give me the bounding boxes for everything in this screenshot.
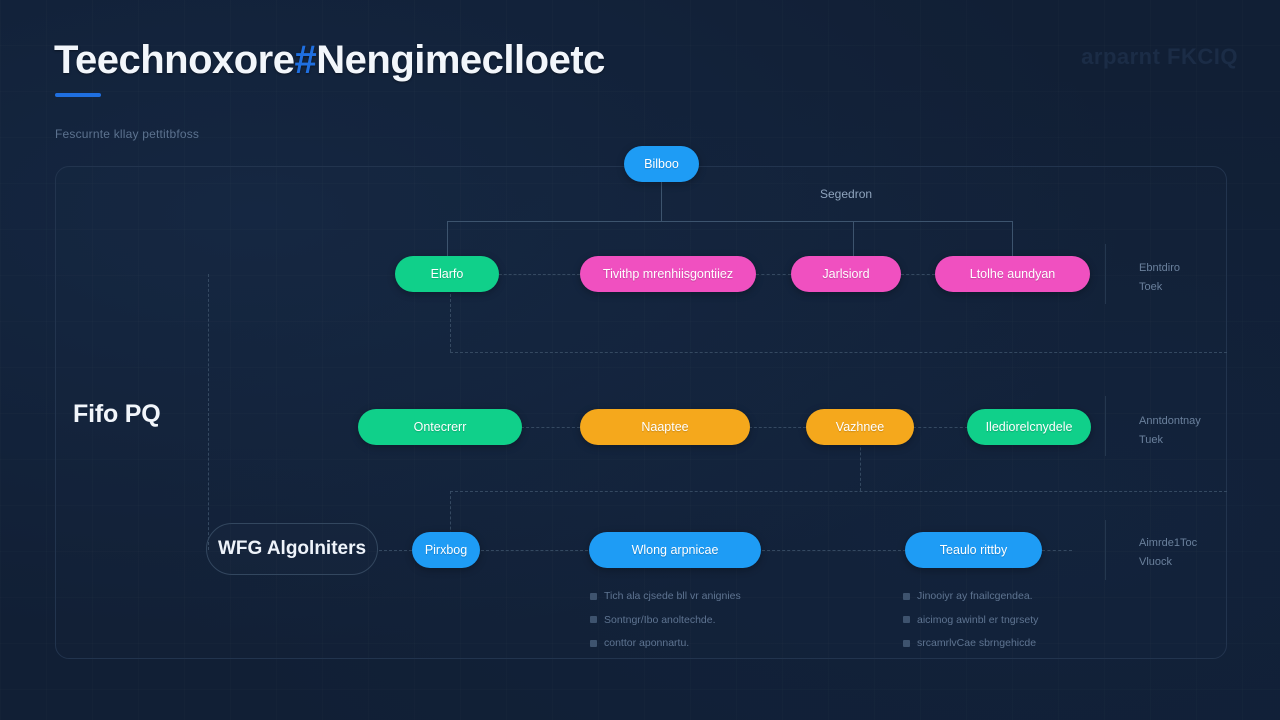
dash-row1-base bbox=[450, 352, 1227, 353]
dash-row2-c bbox=[913, 427, 968, 428]
node-row3-box-wfg[interactable]: WFG Algolniters bbox=[206, 523, 378, 575]
bullet-item: aicimog awinbl er tngrsety bbox=[903, 615, 1038, 626]
dash-row3-a bbox=[379, 550, 412, 551]
row-divider-2 bbox=[1105, 396, 1106, 456]
bullet-item: conttor aponnartu. bbox=[590, 638, 741, 649]
dash-row2-a bbox=[521, 427, 580, 428]
bullet-item: Jinooiyr ay fnailcgendea. bbox=[903, 591, 1038, 602]
row-label-3-line2: Vluock bbox=[1139, 553, 1197, 572]
bullet-text: Tich ala cjsede bll vr anignies bbox=[604, 591, 741, 602]
dash-row2-base bbox=[450, 491, 1227, 492]
dash-row1-b bbox=[756, 274, 791, 275]
slide-root: Teechnoxore#Nengimeclloetc Fescurnte kll… bbox=[0, 0, 1280, 720]
dash-row3-d bbox=[1042, 550, 1072, 551]
dash-row1-c bbox=[901, 274, 935, 275]
node-row1-2[interactable]: Jarlsiord bbox=[791, 256, 901, 292]
node-row3-1[interactable]: Wlong arpnicae bbox=[589, 532, 761, 568]
dash-row2-b bbox=[749, 427, 806, 428]
dash-left-spine bbox=[208, 274, 209, 550]
row-label-3: Aimrde1Toc Vluock bbox=[1139, 534, 1197, 573]
row-label-2-line1: Anntdontnay bbox=[1139, 412, 1201, 431]
bullet-item: srcamrlvCae sbrngehicde bbox=[903, 638, 1038, 649]
connector-drop-1 bbox=[447, 221, 448, 257]
bullet-square-icon bbox=[903, 616, 910, 623]
title-underline-accent bbox=[55, 93, 101, 97]
bullet-text: Jinooiyr ay fnailcgendea. bbox=[917, 591, 1033, 602]
bullet-list-right: Jinooiyr ay fnailcgendea. aicimog awinbl… bbox=[903, 591, 1038, 662]
page-title-rest: Nengimeclloetc bbox=[316, 38, 605, 82]
page-title-accent: # bbox=[295, 38, 317, 82]
bullet-text: aicimog awinbl er tngrsety bbox=[917, 615, 1038, 626]
node-root[interactable]: Bilboo bbox=[624, 146, 699, 182]
row-label-2-line2: Tuek bbox=[1139, 431, 1201, 450]
connector-root-stem bbox=[661, 182, 662, 221]
row-label-1-line1: Ebntdiro bbox=[1139, 259, 1180, 278]
bullet-text: conttor aponnartu. bbox=[604, 638, 689, 649]
row-label-3-line1: Aimrde1Toc bbox=[1139, 534, 1197, 553]
bullet-item: Sontngr/Ibo anoltechde. bbox=[590, 615, 741, 626]
row-divider-3 bbox=[1105, 520, 1106, 580]
bullet-square-icon bbox=[903, 640, 910, 647]
bullet-square-icon bbox=[590, 616, 597, 623]
node-row2-2[interactable]: Vazhnee bbox=[806, 409, 914, 445]
bullet-square-icon bbox=[590, 640, 597, 647]
row-label-1: Ebntdiro Toek bbox=[1139, 259, 1180, 298]
page-title: Teechnoxore#Nengimeclloetc bbox=[54, 38, 605, 83]
row-divider-1 bbox=[1105, 244, 1106, 304]
bullet-square-icon bbox=[590, 593, 597, 600]
bullet-square-icon bbox=[903, 593, 910, 600]
bullet-item: Tich ala cjsede bll vr anignies bbox=[590, 591, 741, 602]
node-row2-0[interactable]: Ontecrerr bbox=[358, 409, 522, 445]
brand-logo-text: arparnt FKCIQ bbox=[1081, 44, 1238, 70]
node-row3-2[interactable]: Teaulo rittby bbox=[905, 532, 1042, 568]
bullet-list-left: Tich ala cjsede bll vr anignies Sontngr/… bbox=[590, 591, 741, 662]
side-label-fifo-pq: Fifo PQ bbox=[73, 400, 160, 429]
page-subtitle: Fescurnte kllay pettitbfoss bbox=[55, 127, 199, 141]
dash-row3-c bbox=[762, 550, 906, 551]
page-title-main: Teechnoxore bbox=[54, 38, 295, 82]
row-label-2: Anntdontnay Tuek bbox=[1139, 412, 1201, 451]
connector-row1-bar bbox=[447, 221, 1013, 222]
bullet-text: srcamrlvCae sbrngehicde bbox=[917, 638, 1036, 649]
node-row1-0[interactable]: Elarfo bbox=[395, 256, 499, 292]
node-row3-0[interactable]: Pirxbog bbox=[412, 532, 480, 568]
caption-segedron: Segedron bbox=[820, 187, 872, 201]
connector-drop-2 bbox=[853, 221, 854, 257]
node-row1-3[interactable]: Ltolhe aundyan bbox=[935, 256, 1090, 292]
dash-row3-b bbox=[481, 550, 588, 551]
row-label-1-line2: Toek bbox=[1139, 278, 1180, 297]
connector-drop-3 bbox=[1012, 221, 1013, 257]
dash-row1-a bbox=[494, 274, 580, 275]
node-row2-3[interactable]: Ilediorelcnydele bbox=[967, 409, 1091, 445]
node-row1-1[interactable]: Tivithp mrenhiisgontiiez bbox=[580, 256, 756, 292]
bullet-text: Sontngr/Ibo anoltechde. bbox=[604, 615, 716, 626]
node-row2-1[interactable]: Naaptee bbox=[580, 409, 750, 445]
